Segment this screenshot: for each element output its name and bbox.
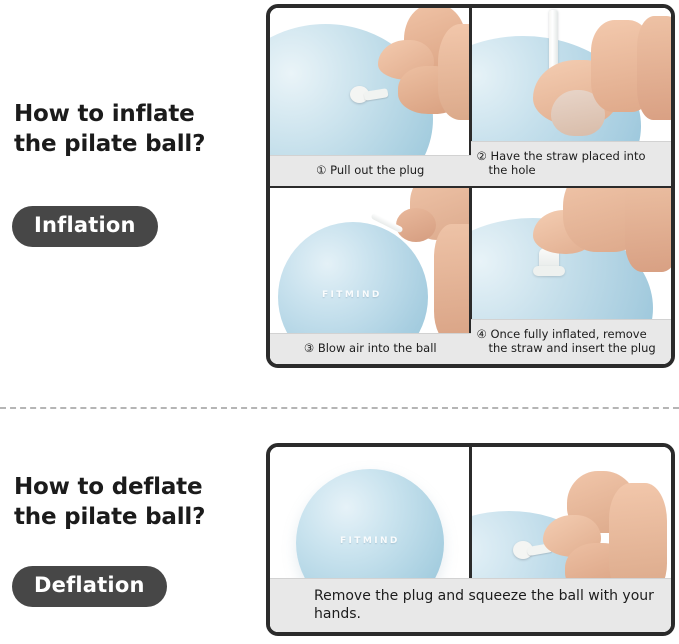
step-3-text: Blow air into the ball [318, 341, 437, 355]
step-1-caption: ① Pull out the plug [270, 155, 471, 186]
step-2-panel: ② Have the straw placed into the hole [471, 8, 672, 186]
step-2-text: Have the straw placed into the hole [489, 149, 646, 178]
hand-pulling-plug [376, 10, 471, 130]
step-1-text: Pull out the plug [330, 163, 424, 177]
step-3-panel: FITMIND ③ Blow air into the ball [270, 186, 471, 364]
inflation-photo-grid: ① Pull out the plug [266, 4, 675, 368]
step-4-number: ④ [477, 327, 487, 341]
step-4-panel: ④ Once fully inflated, remove the straw … [471, 186, 672, 364]
person-blowing [388, 186, 471, 350]
section-separator [0, 407, 679, 409]
inflation-section: How to inflate the pilate ball? Inflatio… [0, 0, 679, 404]
deflation-caption: Remove the plug and squeeze the ball wit… [270, 578, 671, 632]
step-3-number: ③ [304, 341, 314, 355]
ball-brand-logo: FITMIND [322, 290, 382, 300]
ball-brand-logo: FITMIND [340, 536, 400, 546]
inflation-pill-badge: Inflation [12, 206, 158, 247]
step-4-caption: ④ Once fully inflated, remove the straw … [471, 319, 672, 364]
inflation-headline: How to inflate the pilate ball? [14, 99, 205, 160]
infographic-page: How to inflate the pilate ball? Inflatio… [0, 0, 679, 644]
hand-inserting-plug [537, 186, 672, 298]
step-3-caption: ③ Blow air into the ball [270, 333, 471, 364]
step-1-number: ① [316, 163, 326, 177]
deflation-photo-grid: FITMIND Remove the plu [266, 443, 675, 636]
step-1-panel: ① Pull out the plug [270, 8, 471, 186]
inflation-text-column: How to inflate the pilate ball? Inflatio… [0, 0, 262, 404]
deflation-pill-badge: Deflation [12, 566, 167, 607]
step-2-number: ② [477, 149, 487, 163]
step-2-caption: ② Have the straw placed into the hole [471, 141, 672, 186]
hand-holding-straw [533, 32, 672, 142]
step-4-text: Once fully inflated, remove the straw an… [489, 327, 656, 356]
deflation-headline: How to deflate the pilate ball? [14, 472, 205, 533]
